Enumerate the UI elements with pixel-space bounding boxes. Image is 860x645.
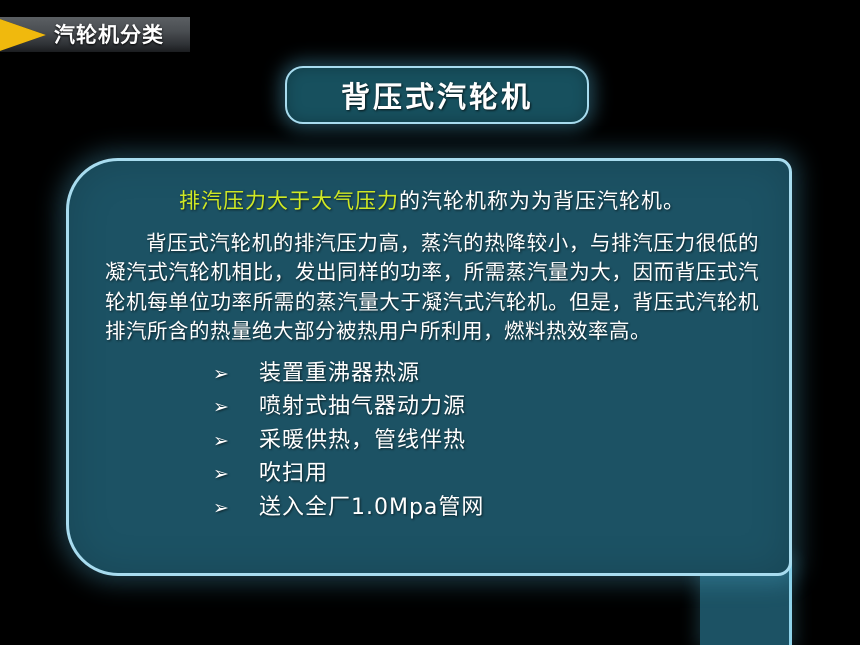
list-item-label: 采暖供热，管线伴热 [259,425,466,458]
body-paragraph: 背压式汽轮机的排汽压力高，蒸汽的热降较小，与排汽压力很低的凝汽式汽轮机相比，发出… [105,229,759,345]
list-item-label: 送入全厂1.0Mpa管网 [259,492,484,525]
list-item-label: 装置重沸器热源 [259,358,420,391]
list-item: ➢ 送入全厂1.0Mpa管网 [213,492,761,525]
arrowhead-bullet-icon: ➢ [213,460,259,488]
lead-highlight-text: 排汽压力大于大气压力 [179,189,399,213]
triangle-right-icon [0,17,46,53]
content-card: 排汽压力大于大气压力的汽轮机称为为背压汽轮机。 背压式汽轮机的排汽压力高，蒸汽的… [66,158,792,576]
lead-definition-line: 排汽压力大于大气压力的汽轮机称为为背压汽轮机。 [103,187,761,215]
content-body: 排汽压力大于大气压力的汽轮机称为为背压汽轮机。 背压式汽轮机的排汽压力高，蒸汽的… [69,161,795,579]
list-item: ➢ 吹扫用 [213,458,761,491]
arrowhead-bullet-icon: ➢ [213,494,259,522]
header-ribbon: 汽轮机分类 [0,17,190,52]
slide-title-box: 背压式汽轮机 [285,66,589,124]
list-item: ➢ 装置重沸器热源 [213,358,761,391]
header-tag-label: 汽轮机分类 [54,17,164,52]
list-item-label: 喷射式抽气器动力源 [259,391,466,424]
list-item: ➢ 采暖供热，管线伴热 [213,425,761,458]
slide-title-text: 背压式汽轮机 [341,74,533,116]
arrowhead-bullet-icon: ➢ [213,360,259,388]
slide-canvas: 汽轮机分类 背压式汽轮机 排汽压力大于大气压力的汽轮机称为为背压汽轮机。 背压式… [0,0,860,645]
lead-rest-text: 的汽轮机称为为背压汽轮机。 [399,189,685,213]
bullet-list: ➢ 装置重沸器热源 ➢ 喷射式抽气器动力源 ➢ 采暖供热，管线伴热 ➢ 吹扫用 … [103,358,761,525]
list-item: ➢ 喷射式抽气器动力源 [213,391,761,424]
arrowhead-bullet-icon: ➢ [213,393,259,421]
list-item-label: 吹扫用 [259,458,328,491]
arrowhead-bullet-icon: ➢ [213,427,259,455]
